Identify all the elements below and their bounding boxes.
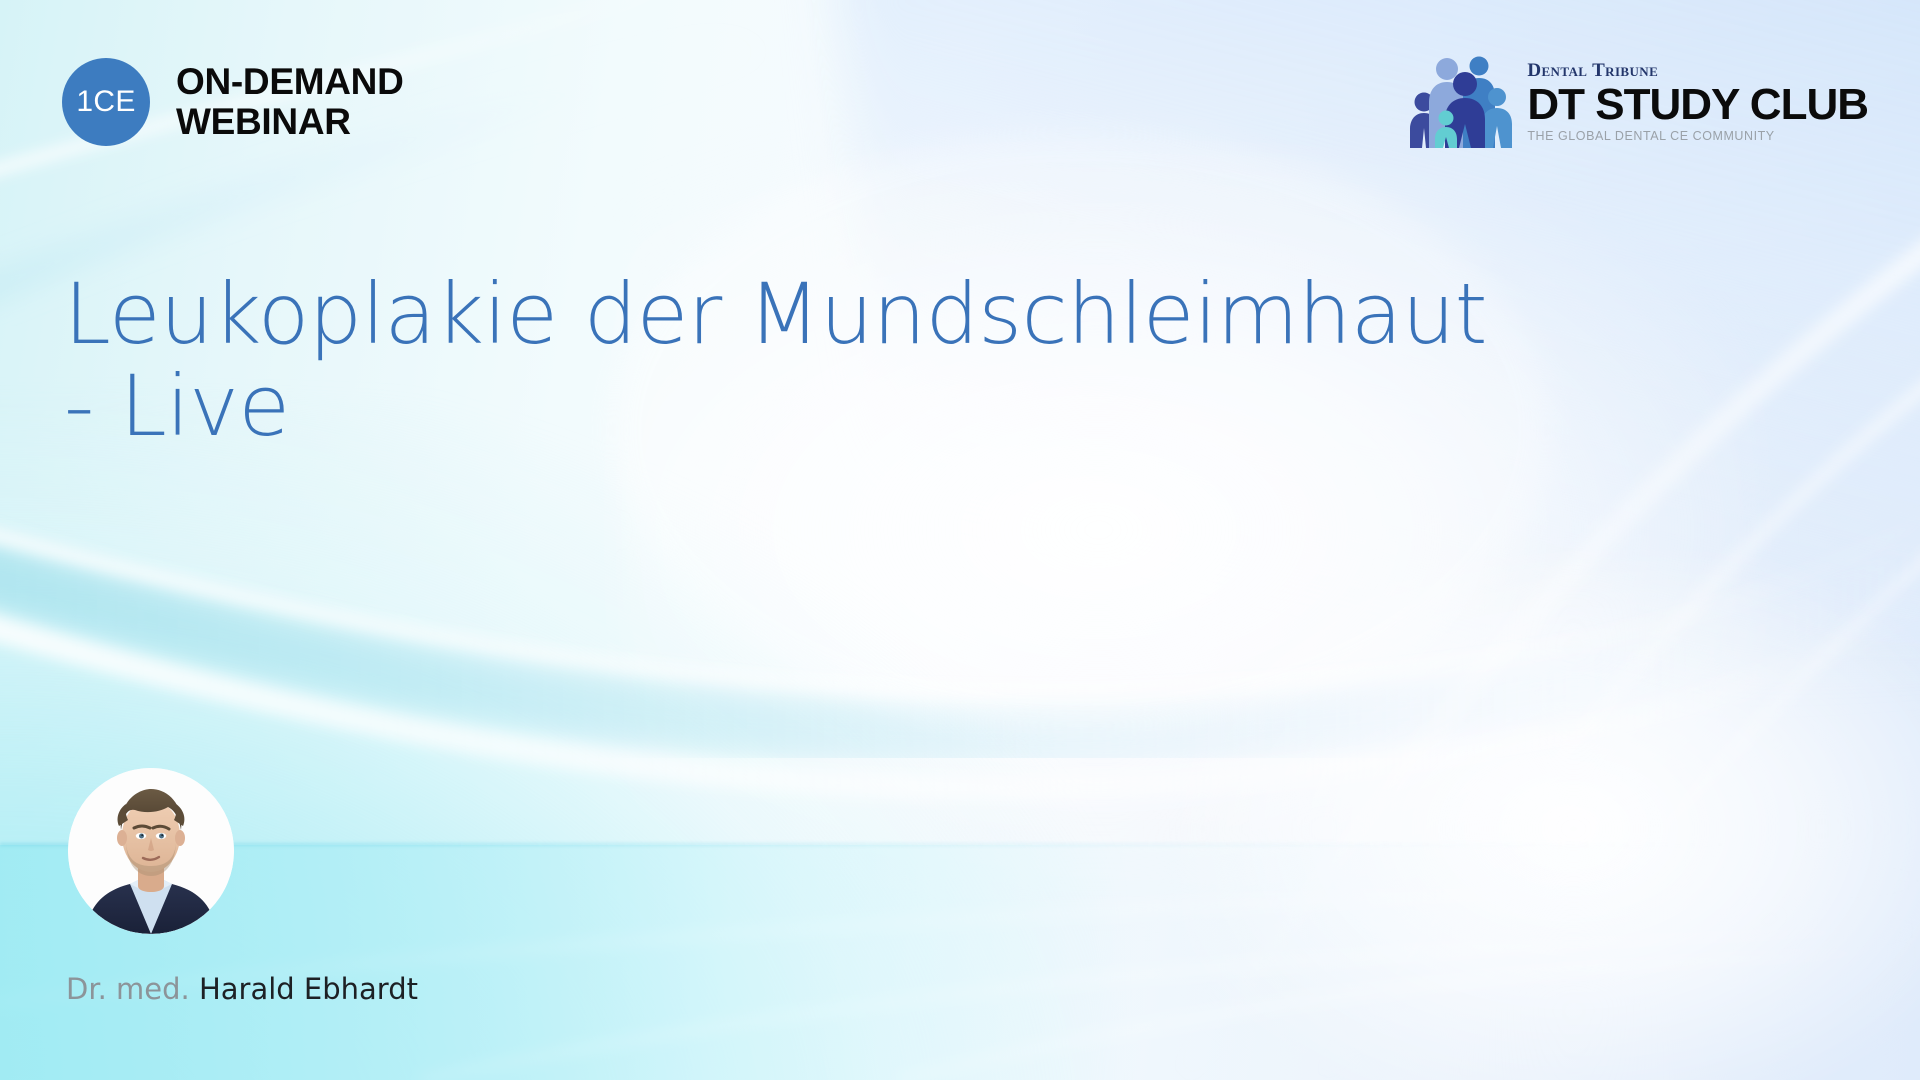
webinar-type-label: ON-DEMAND WEBINAR	[176, 62, 404, 143]
presenter-portrait-photo	[68, 768, 234, 934]
presenter-full-name: Harald Ebhardt	[199, 972, 418, 1006]
webinar-header-left: 1CE ON-DEMAND WEBINAR	[62, 58, 404, 146]
presenter-salutation: Dr. med.	[66, 972, 199, 1006]
presenter-name: Dr. med. Harald Ebhardt	[66, 975, 418, 1004]
background-white-bloom-secondary	[1180, 560, 1920, 1080]
ce-credit-badge-icon: 1CE	[62, 58, 150, 146]
brand-tagline: THE GLOBAL DENTAL CE COMMUNITY	[1527, 130, 1868, 143]
ce-credit-count: 1	[76, 87, 93, 117]
webinar-type-label-line1: ON-DEMAND	[176, 61, 404, 102]
dt-study-club-logo: Dental Tribune DT STUDY CLUB THE GLOBAL …	[1407, 52, 1868, 148]
background-horizon-line	[0, 843, 1920, 846]
brand-kicker: Dental Tribune	[1527, 61, 1868, 80]
webinar-title: Leukoplakie der Mundschleimhaut - Live	[64, 268, 1824, 453]
background-white-bloom	[620, 150, 1760, 910]
background-horizon-band	[0, 845, 1920, 1080]
brand-title: DT STUDY CLUB	[1527, 83, 1868, 126]
brand-text-block: Dental Tribune DT STUDY CLUB THE GLOBAL …	[1527, 61, 1868, 148]
group-of-people-icon	[1407, 52, 1513, 148]
presenter-avatar	[68, 768, 234, 934]
webinar-type-label-line2: WEBINAR	[176, 102, 404, 142]
ce-credit-unit: CE	[93, 87, 135, 117]
background-swoosh-curves	[0, 0, 1920, 1080]
webinar-title-slide: 1CE ON-DEMAND WEBINAR	[0, 0, 1920, 1080]
